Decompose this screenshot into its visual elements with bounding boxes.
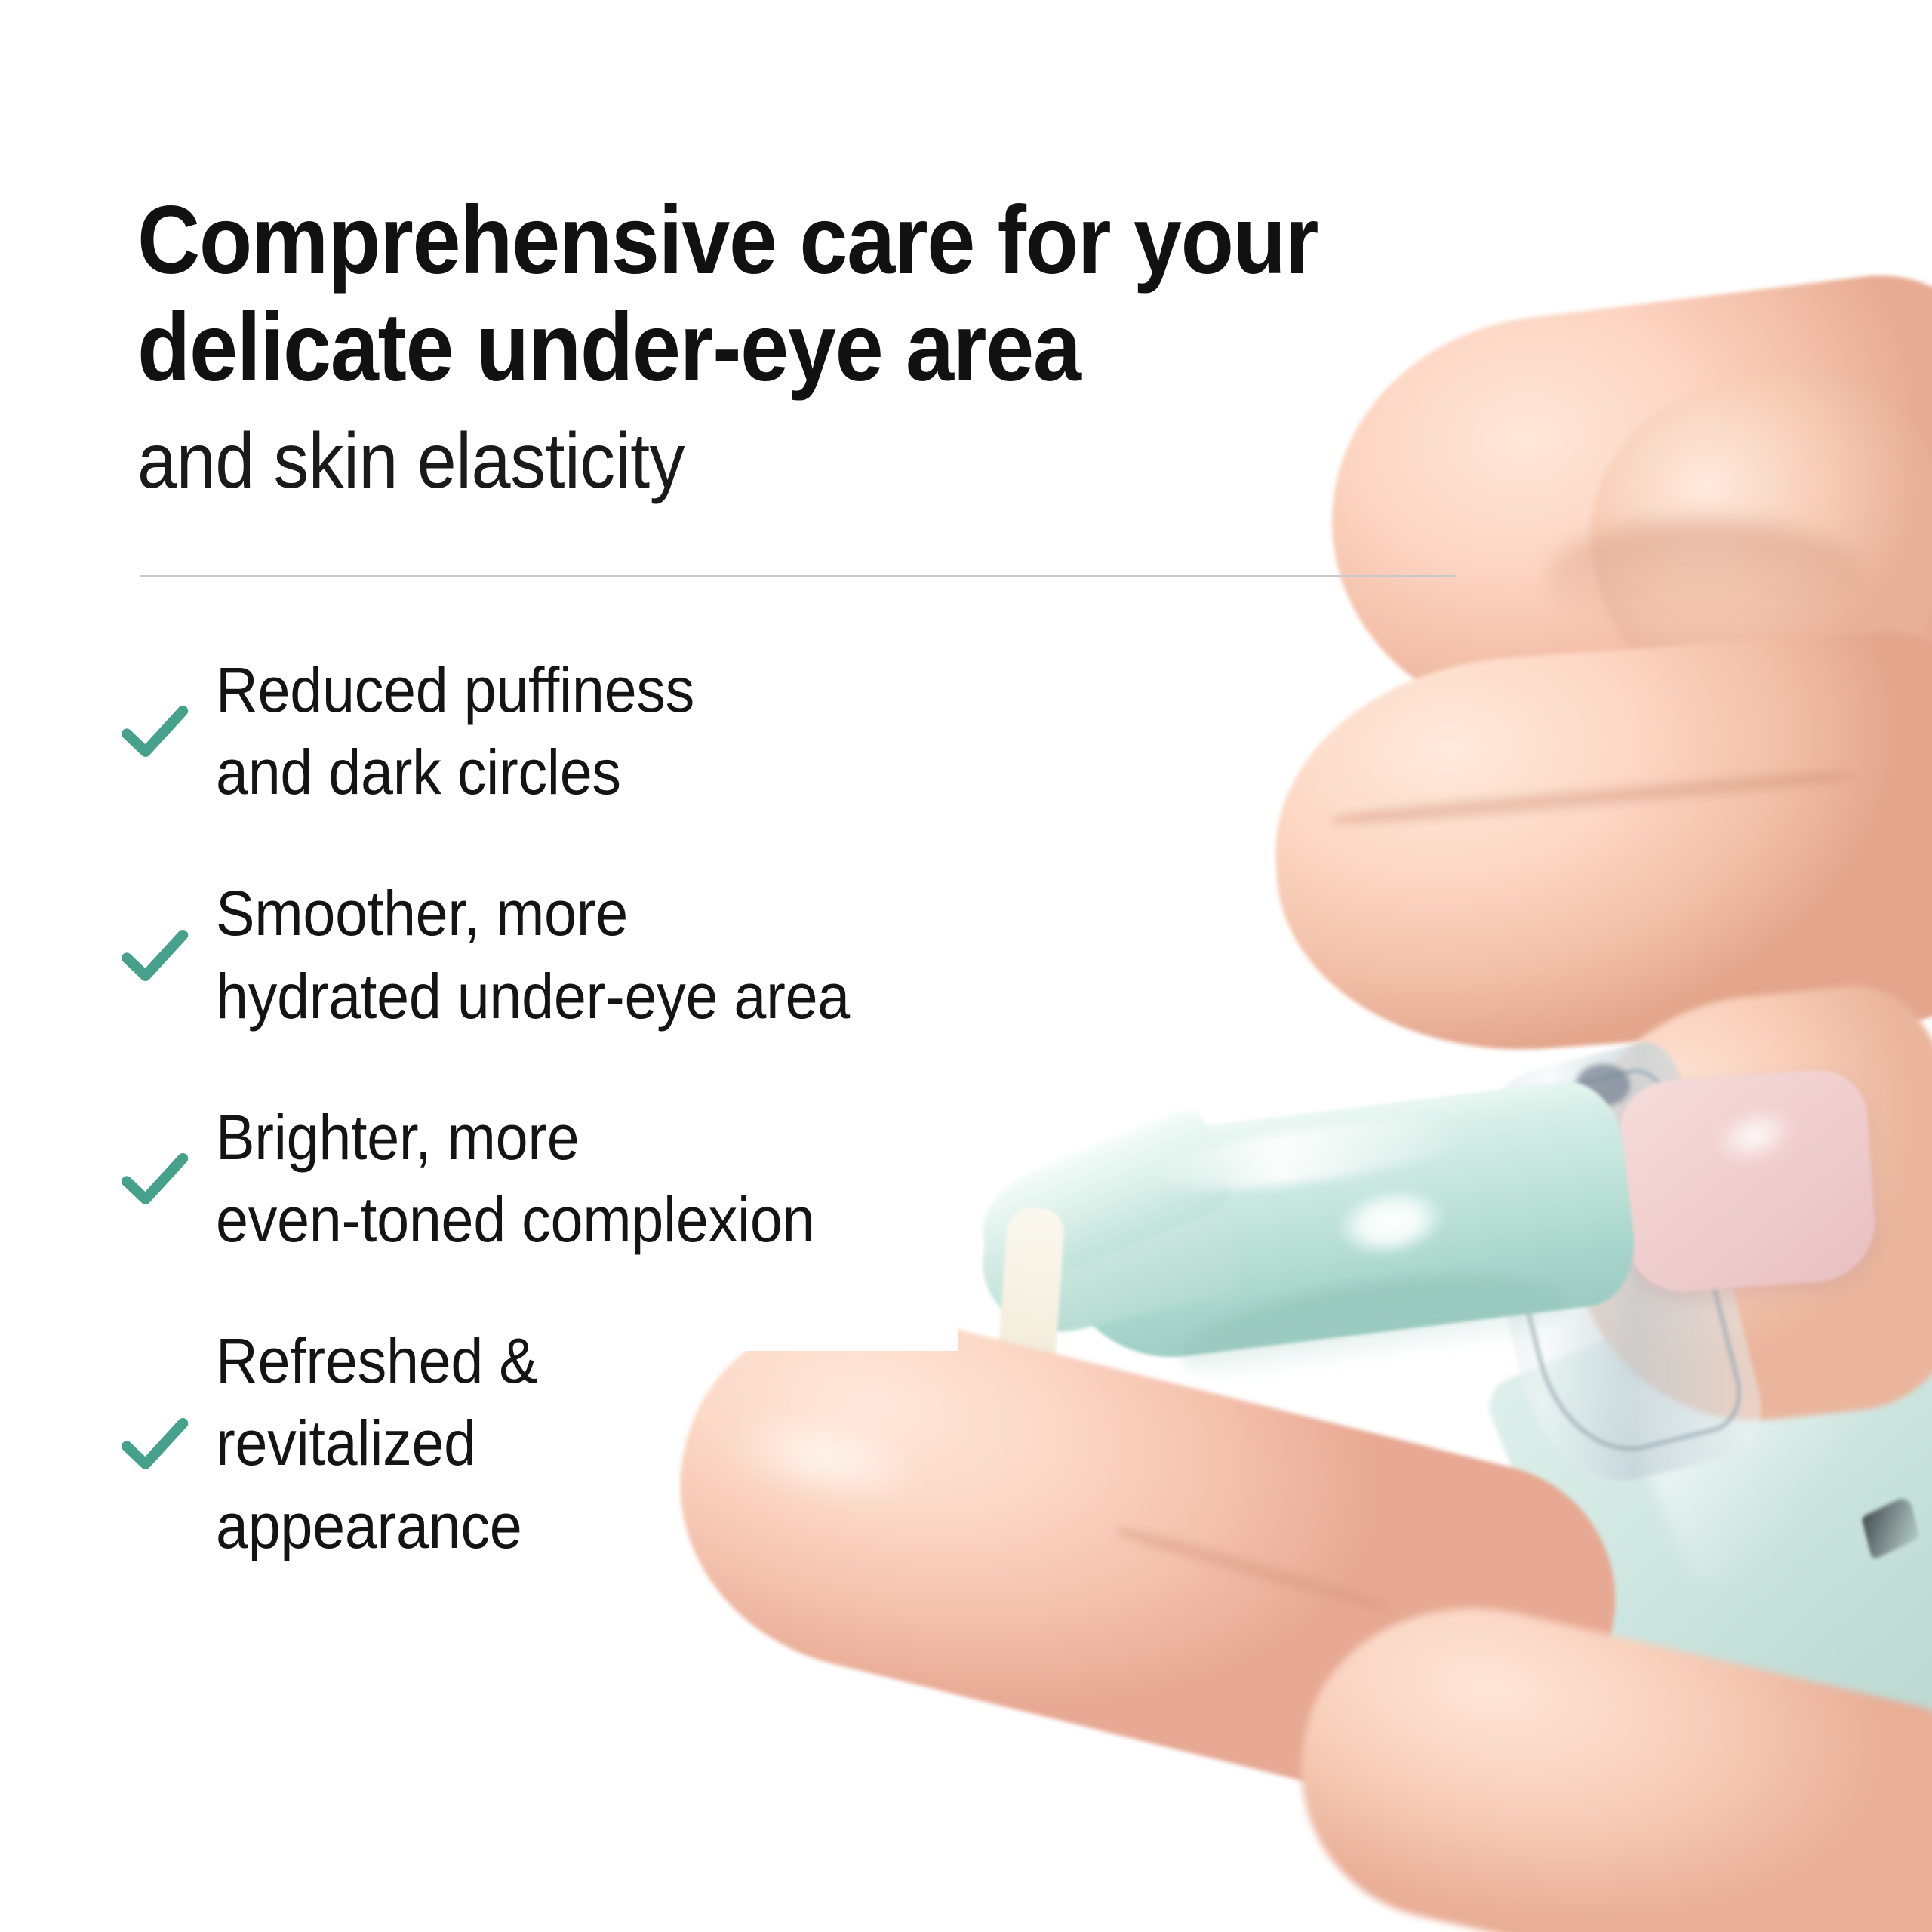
section-divider [140,575,1455,577]
check-icon [113,915,195,996]
page-title-line-2: delicate under-eye area [137,294,1360,401]
list-item: Refreshed & revitalized appearance [113,1320,1004,1567]
page-subtitle: and skin elasticity [137,417,1224,506]
check-icon [113,1138,195,1220]
list-item: Brighter, more even-toned complexion [113,1097,1004,1261]
page-title: Comprehensive care for your delicate und… [137,187,1360,401]
check-icon [113,1403,195,1484]
benefits-list: Reduced puffiness and dark circles Smoot… [113,649,1004,1567]
content-layer: Comprehensive care for your delicate und… [0,0,1932,1932]
page-title-line-1: Comprehensive care for your [137,187,1360,294]
list-item-label: Smoother, more hydrated under-eye area [216,872,850,1037]
list-item: Smoother, more hydrated under-eye area [113,872,1004,1037]
list-item-label: Reduced puffiness and dark circles [216,649,694,814]
list-item: Reduced puffiness and dark circles [113,649,1004,814]
promo-canvas: Comprehensive care for your delicate und… [0,0,1932,1932]
list-item-label: Refreshed & revitalized appearance [216,1320,538,1567]
list-item-label: Brighter, more even-toned complexion [216,1097,814,1261]
check-icon [113,691,195,772]
